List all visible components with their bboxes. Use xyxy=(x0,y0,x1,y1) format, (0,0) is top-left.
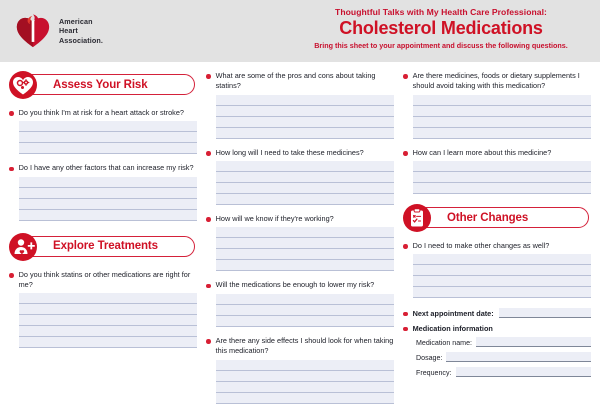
question-text: Do you think statins or other medication… xyxy=(19,270,197,291)
medication-information-fields: Medication name: Dosage: Frequency: xyxy=(416,337,591,377)
logo-line-3: Association. xyxy=(59,36,103,45)
bullet-icon xyxy=(206,339,211,344)
aha-heart-torch-logo-icon xyxy=(14,12,52,50)
answer-line[interactable] xyxy=(19,337,197,348)
answer-line[interactable] xyxy=(216,260,394,271)
cholesterol-medications-worksheet: American Heart Association. Thoughtful T… xyxy=(0,0,600,400)
frequency-label: Frequency: xyxy=(416,369,452,377)
answer-line[interactable] xyxy=(216,382,394,393)
aha-logo: American Heart Association. xyxy=(14,12,103,50)
answer-line[interactable] xyxy=(216,183,394,194)
next-appointment-input[interactable] xyxy=(499,308,591,318)
answer-line[interactable] xyxy=(413,287,591,298)
answer-lines[interactable] xyxy=(216,161,394,205)
section-pill-assess-your-risk: Assess Your Risk xyxy=(22,74,195,95)
answer-line[interactable] xyxy=(216,294,394,305)
bullet-icon xyxy=(206,151,211,156)
question-row: Will the medications be enough to lower … xyxy=(206,280,394,290)
frequency-input[interactable] xyxy=(456,367,592,377)
aha-logo-text: American Heart Association. xyxy=(59,17,103,45)
question-text: Are there medicines, foods or dietary su… xyxy=(413,71,591,92)
medication-name-label: Medication name: xyxy=(416,339,472,347)
dosage-label: Dosage: xyxy=(416,354,442,362)
question-block: Are there medicines, foods or dietary su… xyxy=(403,71,591,139)
answer-lines[interactable] xyxy=(216,227,394,271)
answer-lines[interactable] xyxy=(413,254,591,298)
header-eyebrow: Thoughtful Talks with My Health Care Pro… xyxy=(290,7,592,17)
patient-care-cross-icon xyxy=(9,233,37,261)
answer-line[interactable] xyxy=(413,128,591,139)
section-header-explore-treatments: Explore Treatments xyxy=(9,233,197,261)
clipboard-checklist-icon xyxy=(403,204,431,232)
bullet-icon xyxy=(206,74,211,79)
section-title-assess-your-risk: Assess Your Risk xyxy=(53,79,148,91)
answer-line[interactable] xyxy=(19,304,197,315)
answer-line[interactable] xyxy=(19,143,197,154)
answer-line[interactable] xyxy=(413,183,591,194)
document-header: American Heart Association. Thoughtful T… xyxy=(0,0,600,62)
dosage-input[interactable] xyxy=(446,352,591,362)
worksheet-columns: Assess Your Risk xyxy=(0,62,600,400)
medication-name-field[interactable]: Medication name: xyxy=(416,337,591,347)
answer-line[interactable] xyxy=(413,265,591,276)
right-column: Are there medicines, foods or dietary su… xyxy=(403,71,591,400)
dosage-field[interactable]: Dosage: xyxy=(416,352,591,362)
question-block: What are some of the pros and cons about… xyxy=(206,71,394,139)
question-row: How long will I need to take these medic… xyxy=(206,148,394,158)
answer-line[interactable] xyxy=(216,117,394,128)
heart-gears-icon xyxy=(9,71,37,99)
section-header-assess-your-risk: Assess Your Risk xyxy=(9,71,197,99)
question-row: Are there medicines, foods or dietary su… xyxy=(403,71,591,92)
logo-line-2: Heart xyxy=(59,26,103,35)
answer-lines[interactable] xyxy=(216,360,394,404)
bullet-icon xyxy=(9,111,14,116)
answer-lines[interactable] xyxy=(19,177,197,221)
answer-line[interactable] xyxy=(19,326,197,337)
question-block: Will the medications be enough to lower … xyxy=(206,280,394,326)
bullet-icon xyxy=(403,312,408,317)
question-text: Do I need to make other changes as well? xyxy=(413,241,550,251)
question-row: Do you think statins or other medication… xyxy=(9,270,197,291)
section-header-other-changes: Other Changes xyxy=(403,204,591,232)
answer-line[interactable] xyxy=(19,121,197,132)
question-row: Are there any side effects I should look… xyxy=(206,336,394,357)
question-block: How long will I need to take these medic… xyxy=(206,148,394,205)
answer-line[interactable] xyxy=(413,161,591,172)
question-block: How can I learn more about this medicine… xyxy=(403,148,591,194)
answer-line[interactable] xyxy=(413,276,591,287)
question-row: What are some of the pros and cons about… xyxy=(206,71,394,92)
question-row: Do I have any other factors that can inc… xyxy=(9,163,197,173)
next-appointment-label: Next appointment date: xyxy=(413,309,494,318)
header-subtitle: Bring this sheet to your appointment and… xyxy=(290,42,592,51)
question-block: Do I need to make other changes as well? xyxy=(403,241,591,298)
question-row: Do I need to make other changes as well? xyxy=(403,241,591,251)
answer-lines[interactable] xyxy=(216,294,394,327)
answer-line[interactable] xyxy=(216,227,394,238)
page-title: Cholesterol Medications xyxy=(290,18,592,39)
answer-line[interactable] xyxy=(19,177,197,188)
bullet-icon xyxy=(206,217,211,222)
answer-line[interactable] xyxy=(19,188,197,199)
answer-line[interactable] xyxy=(216,172,394,183)
question-text: Will the medications be enough to lower … xyxy=(216,280,375,290)
section-title-explore-treatments: Explore Treatments xyxy=(53,240,158,252)
answer-line[interactable] xyxy=(19,199,197,210)
question-row: How can I learn more about this medicine… xyxy=(403,148,591,158)
medication-information-heading: Medication information xyxy=(403,324,591,333)
answer-line[interactable] xyxy=(216,161,394,172)
answer-line[interactable] xyxy=(216,360,394,371)
answer-lines[interactable] xyxy=(413,95,591,139)
answer-line[interactable] xyxy=(19,293,197,304)
answer-line[interactable] xyxy=(19,132,197,143)
answer-line[interactable] xyxy=(216,305,394,316)
answer-line[interactable] xyxy=(216,371,394,382)
middle-column: What are some of the pros and cons about… xyxy=(206,71,394,400)
question-block: Do I have any other factors that can inc… xyxy=(9,163,197,220)
medication-information-label: Medication information xyxy=(413,324,493,333)
bullet-icon xyxy=(9,167,14,172)
question-block: Do you think I'm at risk for a heart att… xyxy=(9,108,197,154)
left-column: Assess Your Risk xyxy=(9,71,197,400)
question-text: How can I learn more about this medicine… xyxy=(413,148,552,158)
bullet-icon xyxy=(403,244,408,249)
question-block: Do you think statins or other medication… xyxy=(9,270,197,349)
answer-lines[interactable] xyxy=(19,293,197,348)
question-text: Do I have any other factors that can inc… xyxy=(19,163,194,173)
bullet-icon xyxy=(403,151,408,156)
answer-line[interactable] xyxy=(216,95,394,106)
answer-lines[interactable] xyxy=(413,161,591,194)
answer-line[interactable] xyxy=(19,210,197,221)
answer-line[interactable] xyxy=(413,106,591,117)
frequency-field[interactable]: Frequency: xyxy=(416,367,591,377)
question-text: Are there any side effects I should look… xyxy=(216,336,394,357)
answer-line[interactable] xyxy=(413,117,591,128)
question-text: How long will I need to take these medic… xyxy=(216,148,364,158)
section-pill-explore-treatments: Explore Treatments xyxy=(22,236,195,257)
header-titles: Thoughtful Talks with My Health Care Pro… xyxy=(290,7,592,50)
answer-line[interactable] xyxy=(216,194,394,205)
answer-lines[interactable] xyxy=(216,95,394,139)
answer-line[interactable] xyxy=(413,95,591,106)
question-block: Are there any side effects I should look… xyxy=(206,336,394,404)
answer-line[interactable] xyxy=(216,249,394,260)
question-text: Do you think I'm at risk for a heart att… xyxy=(19,108,184,118)
question-row: Do you think I'm at risk for a heart att… xyxy=(9,108,197,118)
section-title-other-changes: Other Changes xyxy=(447,212,528,224)
section-pill-other-changes: Other Changes xyxy=(416,207,589,228)
next-appointment-field[interactable]: Next appointment date: xyxy=(403,308,591,318)
bullet-icon xyxy=(9,273,14,278)
answer-line[interactable] xyxy=(413,172,591,183)
logo-line-1: American xyxy=(59,17,103,26)
medication-name-input[interactable] xyxy=(476,337,591,347)
bullet-icon xyxy=(403,74,408,79)
question-block: How will we know if they're working? xyxy=(206,214,394,271)
question-text: How will we know if they're working? xyxy=(216,214,334,224)
question-row: How will we know if they're working? xyxy=(206,214,394,224)
bullet-icon xyxy=(206,284,211,289)
answer-line[interactable] xyxy=(413,254,591,265)
answer-line[interactable] xyxy=(216,393,394,404)
question-text: What are some of the pros and cons about… xyxy=(216,71,394,92)
answer-line[interactable] xyxy=(216,128,394,139)
answer-line[interactable] xyxy=(19,315,197,326)
answer-line[interactable] xyxy=(216,316,394,327)
bullet-icon xyxy=(403,327,408,332)
answer-line[interactable] xyxy=(216,238,394,249)
answer-line[interactable] xyxy=(216,106,394,117)
answer-lines[interactable] xyxy=(19,121,197,154)
